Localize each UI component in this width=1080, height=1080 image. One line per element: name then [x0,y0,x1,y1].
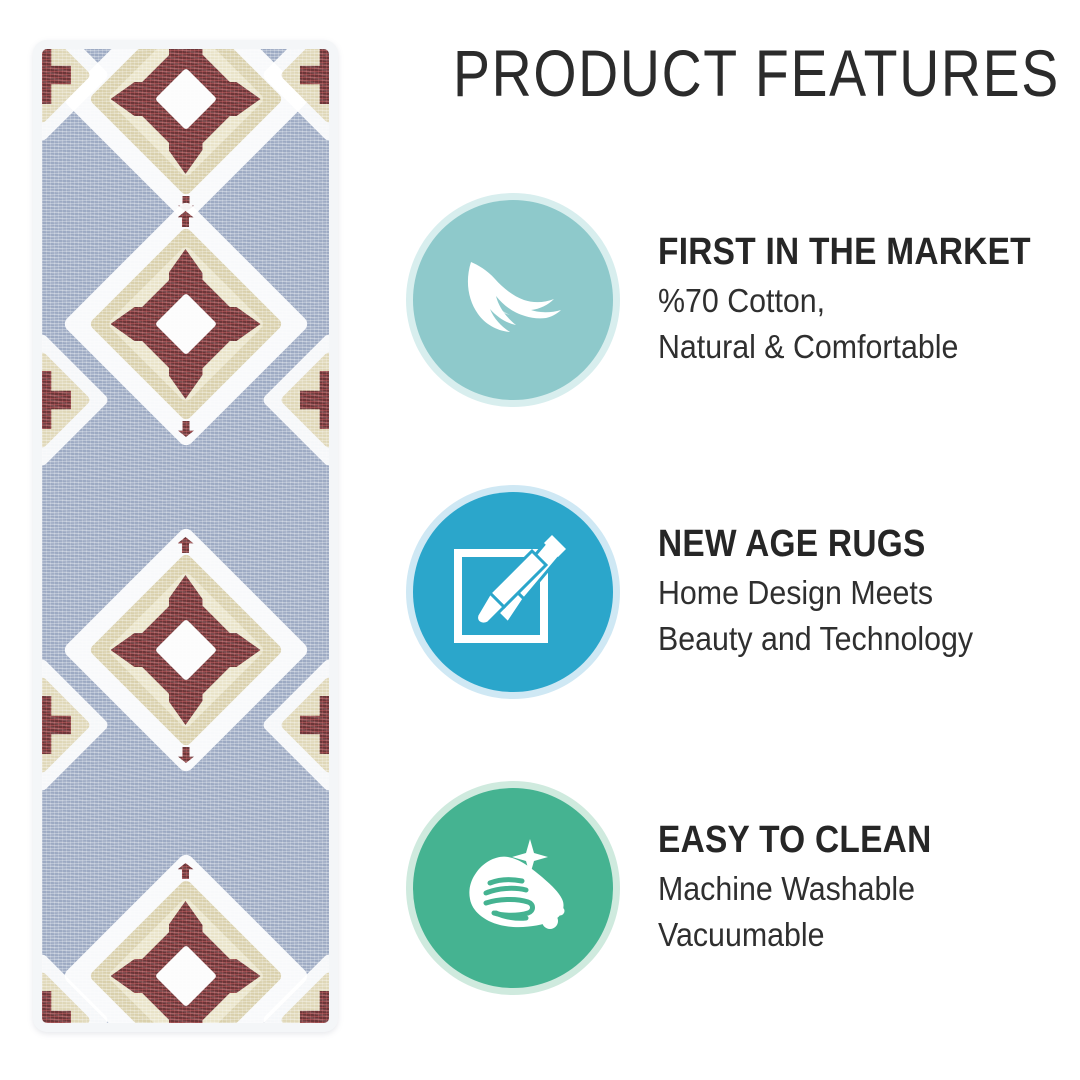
feature-subtitle-line: Machine Washable [658,866,1040,912]
feature-subtitle-line: Beauty and Technology [658,616,1040,662]
design-pen-brush-icon [448,527,578,657]
feature-title: EASY TO CLEAN [658,818,1023,862]
feature-item-first-in-the-market: FIRST IN THE MARKET %70 Cotton, Natural … [413,195,1073,405]
rug-side-motif [283,49,329,141]
feature-icon-circle [413,200,613,400]
feature-subtitle-line: Natural & Comfortable [658,324,1048,370]
feature-text-block: EASY TO CLEAN Machine Washable Vacuumabl… [613,818,1073,958]
page-title: PRODUCT FEATURES [453,40,1009,106]
feather-icon [447,234,579,366]
rug-medallion [52,811,320,1023]
feature-item-new-age-rugs: NEW AGE RUGS Home Design Meets Beauty an… [413,487,1073,697]
rug-side-motif [283,954,329,1023]
rug-side-motif [42,954,88,1023]
rug-medallion [52,485,320,815]
rug-product-photo [33,40,338,1032]
rug-medallion [52,159,320,489]
rug-side-motif [283,334,329,466]
feature-text-block: FIRST IN THE MARKET %70 Cotton, Natural … [613,230,1080,370]
hand-cleaning-cloth-icon [446,821,580,955]
feature-subtitle-line: Home Design Meets [658,570,1040,616]
features-panel: PRODUCT FEATURES FIRST IN THE MARKET %70… [400,0,1080,1080]
feature-icon-circle [413,492,613,692]
rug-side-motif [42,49,88,141]
rug-side-motif [283,659,329,791]
feature-subtitle-line: %70 Cotton, [658,278,1048,324]
feature-icon-circle [413,788,613,988]
rug-side-motif [42,659,88,791]
rug-pattern-field [42,49,329,1023]
rug-side-motif [42,334,88,466]
feature-title: NEW AGE RUGS [658,522,1023,566]
feature-item-easy-to-clean: EASY TO CLEAN Machine Washable Vacuumabl… [413,783,1073,993]
feature-title: FIRST IN THE MARKET [658,230,1031,274]
product-image-panel [0,0,400,1080]
feature-subtitle-line: Vacuumable [658,912,1040,958]
feature-text-block: NEW AGE RUGS Home Design Meets Beauty an… [613,522,1073,662]
